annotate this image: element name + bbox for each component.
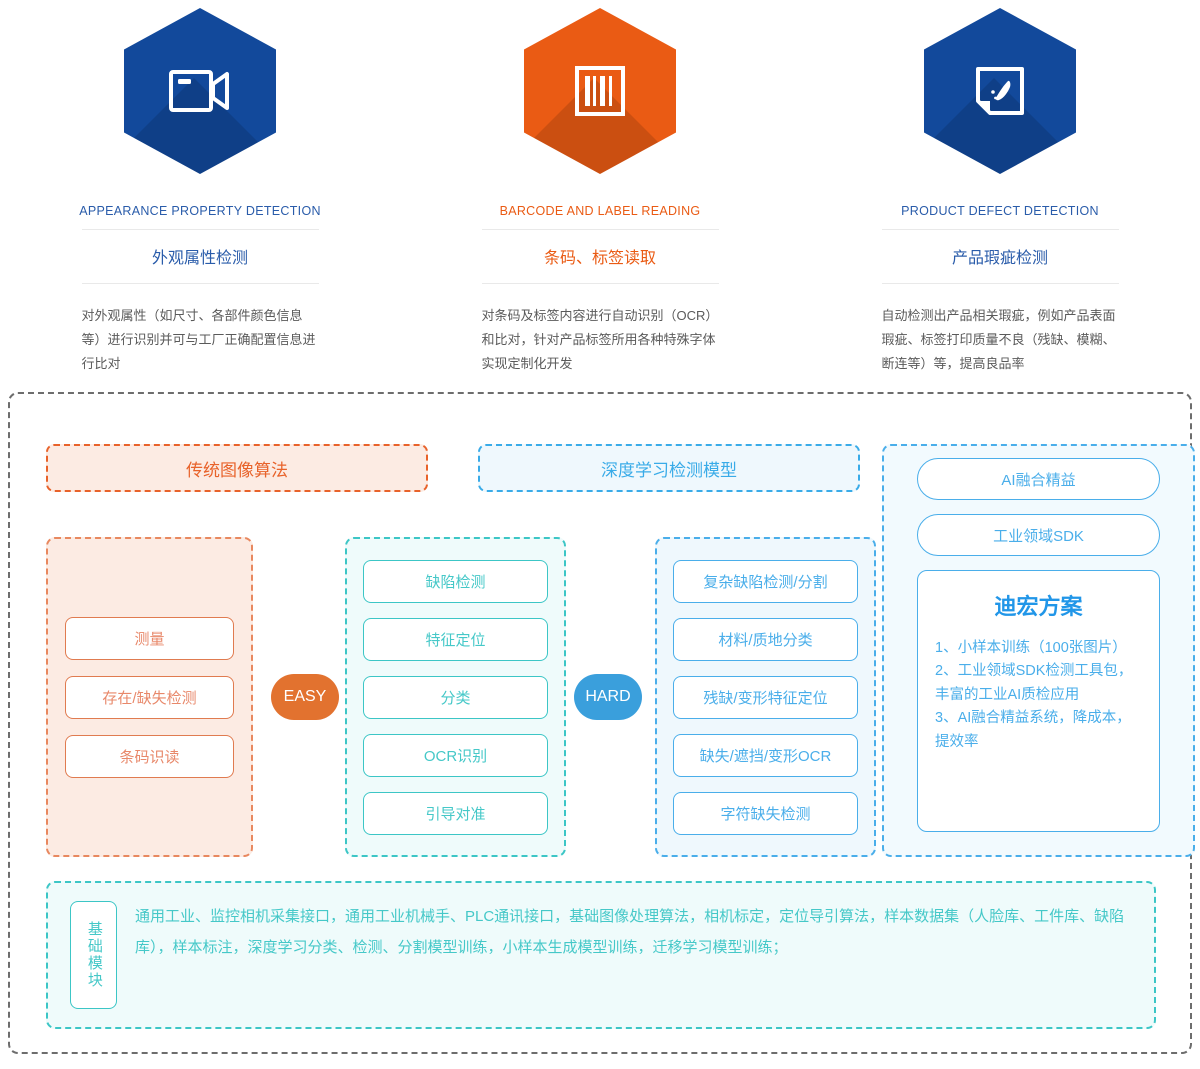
solution-card-body: 1、小样本训练（100张图片） 2、工业领域SDK检测工具包，丰富的工业AI质检… [935, 637, 1142, 754]
feature-description: 自动检测出产品相关瑕疵，例如产品表面瑕疵、标签打印质量不良（残缺、模糊、断连等）… [882, 284, 1119, 376]
solution-pill-ai-lean[interactable]: AI融合精益 [917, 458, 1160, 500]
chip-easy-0[interactable]: 缺陷检测 [363, 560, 548, 603]
chip-hard-0[interactable]: 复杂缺陷检测/分割 [673, 560, 858, 603]
capability-diagram: 传统图像算法 深度学习检测模型 测量 存在/缺失检测 条码识读 EASY 缺陷检… [8, 392, 1192, 1054]
column-easy-tasks: 缺陷检测 特征定位 分类 OCR识别 引导对准 [345, 537, 566, 857]
feature-title: 条码、标签读取 [544, 230, 656, 283]
level-badge-easy: EASY [271, 674, 339, 720]
feature-description: 对条码及标签内容进行自动识别（OCR）和比对，针对产品标签所用各种特殊字体实现定… [482, 284, 719, 376]
section-header-traditional: 传统图像算法 [46, 444, 428, 492]
feature-kicker: APPEARANCE PROPERTY DETECTION [79, 204, 321, 218]
column-traditional: 测量 存在/缺失检测 条码识读 [46, 537, 253, 857]
video-camera-icon [124, 8, 276, 174]
level-badge-hard: HARD [574, 674, 642, 720]
chip-traditional-2[interactable]: 条码识读 [65, 735, 234, 778]
base-module-tag: 基础模块 [70, 901, 117, 1009]
chip-easy-4[interactable]: 引导对准 [363, 792, 548, 835]
feature-card-defect: PRODUCT DEFECT DETECTION 产品瑕疵检测 自动检测出产品相… [800, 8, 1200, 376]
chip-hard-2[interactable]: 残缺/变形特征定位 [673, 676, 858, 719]
chip-traditional-0[interactable]: 测量 [65, 617, 234, 660]
feature-title: 外观属性检测 [152, 230, 248, 283]
feature-description: 对外观属性（如尺寸、各部件颜色信息等）进行识别并可与工厂正确配置信息进行比对 [82, 284, 319, 376]
solution-card: 迪宏方案 1、小样本训练（100张图片） 2、工业领域SDK检测工具包，丰富的工… [917, 570, 1160, 832]
chip-easy-3[interactable]: OCR识别 [363, 734, 548, 777]
feature-card-barcode: BARCODE AND LABEL READING 条码、标签读取 对条码及标签… [400, 8, 800, 376]
chip-hard-4[interactable]: 字符缺失检测 [673, 792, 858, 835]
feature-kicker: BARCODE AND LABEL READING [500, 204, 701, 218]
base-module-band: 基础模块 通用工业、监控相机采集接口，通用工业机械手、PLC通讯接口，基础图像处… [46, 881, 1156, 1029]
section-header-deep-learning: 深度学习检测模型 [478, 444, 860, 492]
hex-badge-barcode [524, 8, 676, 174]
chip-easy-1[interactable]: 特征定位 [363, 618, 548, 661]
chip-traditional-1[interactable]: 存在/缺失检测 [65, 676, 234, 719]
feature-card-appearance: APPEARANCE PROPERTY DETECTION 外观属性检测 对外观… [0, 8, 400, 376]
solution-pill-industrial-sdk[interactable]: 工业领域SDK [917, 514, 1160, 556]
chip-easy-2[interactable]: 分类 [363, 676, 548, 719]
defect-inspection-icon [924, 8, 1076, 174]
hex-badge-defect [924, 8, 1076, 174]
base-module-text: 通用工业、监控相机采集接口，通用工业机械手、PLC通讯接口，基础图像处理算法，相… [135, 901, 1134, 963]
feature-row: APPEARANCE PROPERTY DETECTION 外观属性检测 对外观… [0, 0, 1200, 376]
chip-hard-3[interactable]: 缺失/遮挡/变形OCR [673, 734, 858, 777]
column-solution: AI融合精益 工业领域SDK 迪宏方案 1、小样本训练（100张图片） 2、工业… [882, 444, 1195, 857]
feature-kicker: PRODUCT DEFECT DETECTION [901, 204, 1099, 218]
chip-hard-1[interactable]: 材料/质地分类 [673, 618, 858, 661]
solution-card-title: 迪宏方案 [935, 589, 1142, 621]
hex-badge-appearance [124, 8, 276, 174]
feature-title: 产品瑕疵检测 [952, 230, 1048, 283]
barcode-icon [524, 8, 676, 174]
column-hard-tasks: 复杂缺陷检测/分割 材料/质地分类 残缺/变形特征定位 缺失/遮挡/变形OCR … [655, 537, 876, 857]
